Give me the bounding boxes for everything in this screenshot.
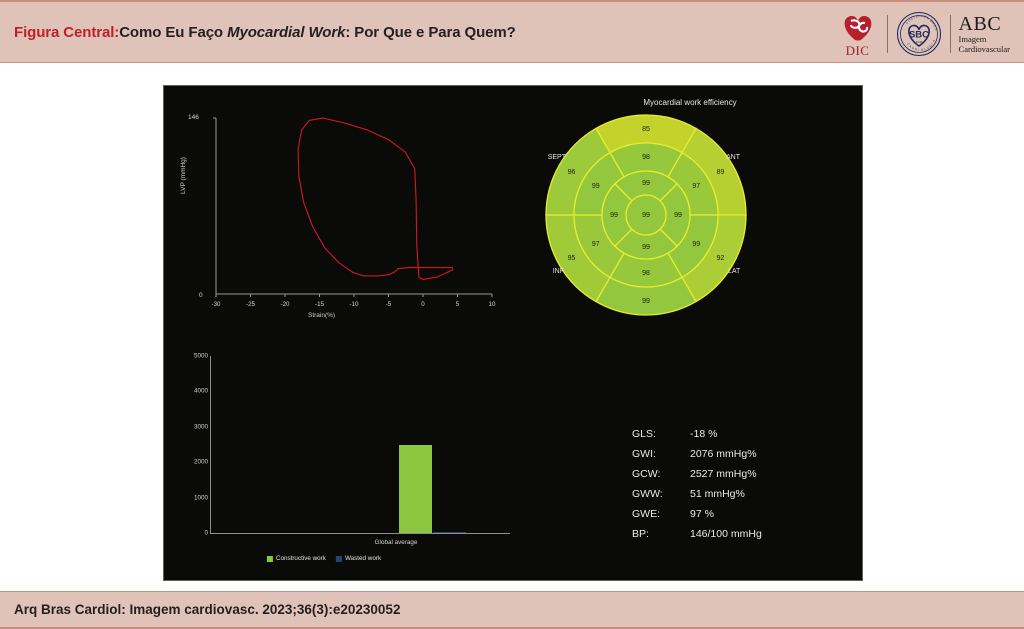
bullseye-segment-value: 99 bbox=[592, 183, 600, 190]
bullseye-segment-value: 99 bbox=[674, 212, 682, 219]
page-title: Figura Central:Como Eu Faço Myocardial W… bbox=[14, 24, 516, 41]
legend-swatch-wasted bbox=[336, 556, 342, 562]
measurement-value: 97 % bbox=[690, 508, 714, 520]
abc-logo: ABC Imagem Cardiovascular bbox=[959, 11, 1010, 57]
barchart-y-tick: 1000 bbox=[194, 494, 208, 501]
abc-logo-title: ABC bbox=[959, 14, 1010, 34]
logo-divider-2 bbox=[950, 15, 951, 53]
bullseye-segment-value: 97 bbox=[692, 183, 700, 190]
measurement-key: GWI: bbox=[632, 448, 690, 460]
psloop-x-tick: 0 bbox=[421, 301, 424, 308]
sbc-seal-icon: SBC 1943 S O C I E D A D E B R A S C bbox=[896, 11, 942, 57]
bar-constructive-work bbox=[399, 445, 432, 534]
bullseye-wall-label: INF bbox=[553, 268, 564, 275]
page-title-part1: Como Eu Faço bbox=[119, 24, 227, 41]
bullseye-segment-value: 95 bbox=[568, 255, 576, 262]
barchart-plot-area bbox=[210, 356, 510, 534]
legend-swatch-constructive bbox=[267, 556, 273, 562]
barchart-y-ticks: 010002000300040005000 bbox=[174, 356, 208, 534]
psloop-x-tick: -25 bbox=[246, 301, 255, 308]
bullseye-segment-value: 92 bbox=[717, 255, 725, 262]
svg-text:SBC: SBC bbox=[909, 30, 929, 41]
legend-label-constructive: Constructive work bbox=[276, 555, 326, 562]
measurements-table: GLS:-18 %GWI:2076 mmHg%GCW:2527 mmHg%GWW… bbox=[632, 424, 762, 544]
psloop-plot-area bbox=[182, 96, 502, 321]
dic-logo: DIC bbox=[837, 11, 879, 57]
measurement-row: GWW:51 mmHg% bbox=[632, 484, 762, 504]
abc-logo-sub1: Imagem bbox=[959, 34, 1010, 44]
bullseye-segment-value: 99 bbox=[642, 298, 650, 305]
psloop-x-tick: -10 bbox=[350, 301, 359, 308]
measurement-value: -18 % bbox=[690, 428, 717, 440]
bullseye-wall-label: SEPT bbox=[548, 154, 567, 161]
citation-text: Arq Bras Cardiol: Imagem cardiovasc. 202… bbox=[14, 602, 400, 617]
measurement-key: GCW: bbox=[632, 468, 690, 480]
legend-item-wasted-work: Wasted work bbox=[336, 555, 381, 562]
psloop-x-tick: -15 bbox=[315, 301, 324, 308]
bullseye-segment-value: 99 bbox=[610, 212, 618, 219]
measurement-row: GCW:2527 mmHg% bbox=[632, 464, 762, 484]
legend-item-constructive-work: Constructive work bbox=[267, 555, 326, 562]
barchart-category-label: Global average bbox=[375, 539, 418, 546]
barchart-y-tick: 5000 bbox=[194, 353, 208, 360]
barchart-legend: Constructive work Wasted work bbox=[267, 555, 381, 562]
dic-logo-label: DIC bbox=[837, 43, 879, 59]
bullseye-segment-value: 99 bbox=[642, 244, 650, 251]
measurement-key: GWE: bbox=[632, 508, 690, 520]
logo-group: DIC SBC 1943 S O C I E D A D E bbox=[837, 10, 1010, 58]
echocardiography-panel: LVP (mmHg) 146 0 Strain(%) -30-25-20-15-… bbox=[163, 85, 863, 581]
bullseye-title: Myocardial work efficiency bbox=[643, 98, 736, 107]
measurement-key: GLS: bbox=[632, 428, 690, 440]
bullseye-segment-value: 96 bbox=[568, 169, 576, 176]
footer-band: Arq Bras Cardiol: Imagem cardiovasc. 202… bbox=[0, 591, 1024, 629]
bullseye-wall-label: LAT bbox=[728, 268, 741, 275]
bullseye-wall-label: ANT bbox=[726, 154, 741, 161]
bullseye-apex-value: 99 bbox=[642, 212, 650, 219]
barchart-y-tick: 0 bbox=[204, 530, 208, 537]
svg-text:E: E bbox=[926, 16, 929, 20]
measurement-value: 2527 mmHg% bbox=[690, 468, 757, 480]
barchart-x-axis bbox=[210, 533, 510, 534]
header-band: Figura Central:Como Eu Faço Myocardial W… bbox=[0, 0, 1024, 63]
legend-label-wasted: Wasted work bbox=[345, 555, 381, 562]
measurement-value: 2076 mmHg% bbox=[690, 448, 757, 460]
work-bar-chart: 010002000300040005000 Global average Con… bbox=[174, 356, 524, 572]
sbc-logo: SBC 1943 S O C I E D A D E B R A S C bbox=[896, 11, 942, 57]
measurement-row: GWE:97 % bbox=[632, 504, 762, 524]
measurement-key: GWW: bbox=[632, 488, 690, 500]
logo-divider-1 bbox=[887, 15, 888, 53]
pressure-strain-loop-chart: LVP (mmHg) 146 0 Strain(%) -30-25-20-15-… bbox=[182, 96, 502, 321]
measurement-value: 51 mmHg% bbox=[690, 488, 745, 500]
measurement-row: BP:146/100 mmHg bbox=[632, 524, 762, 544]
psloop-x-tick: -5 bbox=[386, 301, 392, 308]
heart-icon bbox=[839, 12, 877, 44]
bullseye-segment-value: 98 bbox=[642, 154, 650, 161]
bullseye-plot-area: 8589929995969897999897999999999999ANT_SE… bbox=[536, 108, 786, 323]
psloop-x-tick: 5 bbox=[456, 301, 459, 308]
barchart-y-tick: 4000 bbox=[194, 388, 208, 395]
measurement-value: 146/100 mmHg bbox=[690, 528, 762, 540]
bullseye-segment-value: 99 bbox=[642, 180, 650, 187]
svg-text:1943: 1943 bbox=[915, 40, 922, 44]
page-title-part2: : Por Que e Para Quem? bbox=[345, 24, 515, 41]
psloop-x-tick: -30 bbox=[212, 301, 221, 308]
bullseye-chart: Myocardial work efficiency 8589929995969… bbox=[494, 86, 863, 326]
measurement-row: GWI:2076 mmHg% bbox=[632, 444, 762, 464]
page-title-prefix: Figura Central: bbox=[14, 24, 119, 41]
bullseye-segment-value: 85 bbox=[642, 126, 650, 133]
measurement-key: BP: bbox=[632, 528, 690, 540]
psloop-x-tick: -20 bbox=[281, 301, 290, 308]
barchart-y-tick: 3000 bbox=[194, 423, 208, 430]
svg-text:I: I bbox=[917, 48, 918, 52]
measurement-row: GLS:-18 % bbox=[632, 424, 762, 444]
barchart-y-tick: 2000 bbox=[194, 459, 208, 466]
bullseye-segment-value: 98 bbox=[642, 270, 650, 277]
bullseye-segment-value: 97 bbox=[592, 241, 600, 248]
bullseye-segment-value: 89 bbox=[717, 169, 725, 176]
bullseye-segment-value: 99 bbox=[692, 241, 700, 248]
page-title-italic: Myocardial Work bbox=[227, 24, 345, 41]
abc-logo-sub2: Cardiovascular bbox=[959, 44, 1010, 54]
